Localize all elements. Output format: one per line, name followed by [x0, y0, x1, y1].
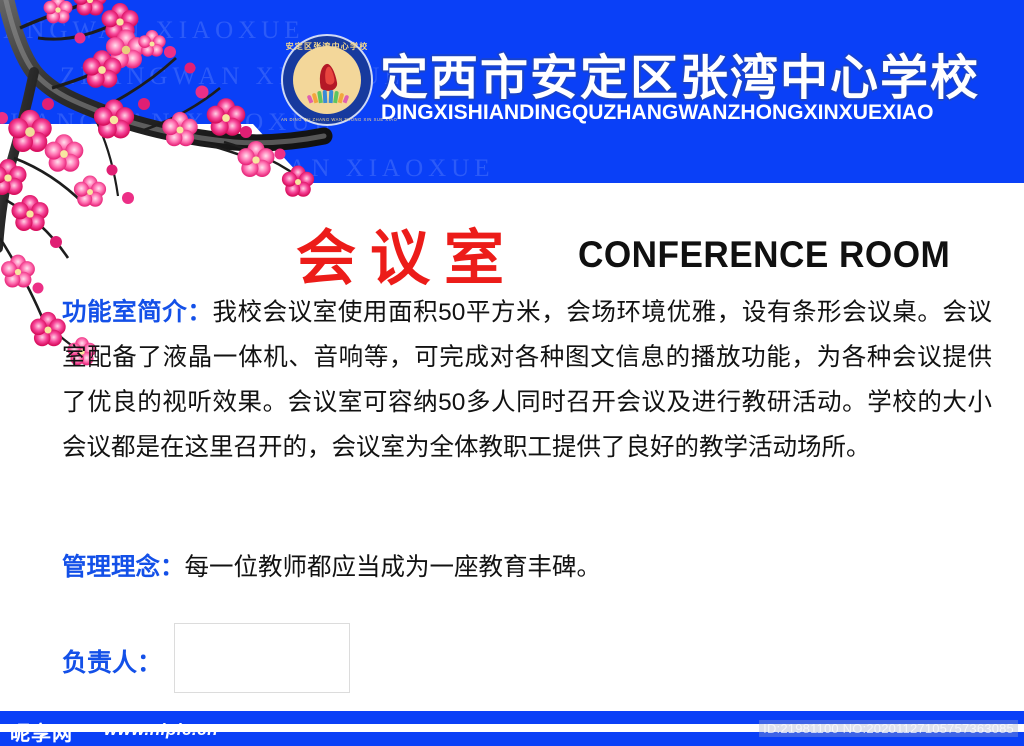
footer-id-text: ID:21981100 NO:20201127105757363085 [759, 720, 1018, 737]
torch-flame-icon [317, 63, 338, 93]
footer-url: www.nipic.cn [104, 720, 218, 740]
poster-canvas: ZHANGWAN XIAOXUE ZHANGWAN XIAOXUE ZHANGW… [0, 0, 1024, 746]
philosophy-text: 每一位教师都应当成为一座教育丰碑。 [185, 554, 602, 581]
school-name-pinyin: DINGXISHIANDINGQUZHANGWANZHONGXINXUEXIAO [381, 100, 934, 125]
school-logo: 安定区张湾中心学校 AN DING QU ZHANG WAN ZHONG XIN… [281, 34, 373, 126]
responsible-person-field[interactable] [174, 623, 350, 693]
philosophy-paragraph: 管理理念：每一位教师都应当成为一座教育丰碑。 [62, 548, 601, 588]
footer-brand: 昵享网 [10, 717, 73, 746]
intro-paragraph: 功能室简介：我校会议室使用面积50平方米，会场环境优雅，设有条形会议桌。会议室配… [62, 290, 992, 470]
school-name-cn: 定西市安定区张湾中心学校 [380, 38, 980, 108]
logo-inner-disc [293, 46, 361, 114]
philosophy-label: 管理理念： [62, 554, 185, 581]
open-book-icon [308, 89, 348, 103]
responsible-person-label: 负责人： [62, 643, 162, 679]
room-title-en: CONFERENCE ROOM [578, 234, 950, 276]
footer-bar: 昵享网 www.nipic.cn ID:21981100 NO:20201127… [0, 711, 1024, 746]
room-title-cn: 会议室 [296, 210, 518, 297]
intro-label: 功能室简介： [62, 299, 212, 326]
